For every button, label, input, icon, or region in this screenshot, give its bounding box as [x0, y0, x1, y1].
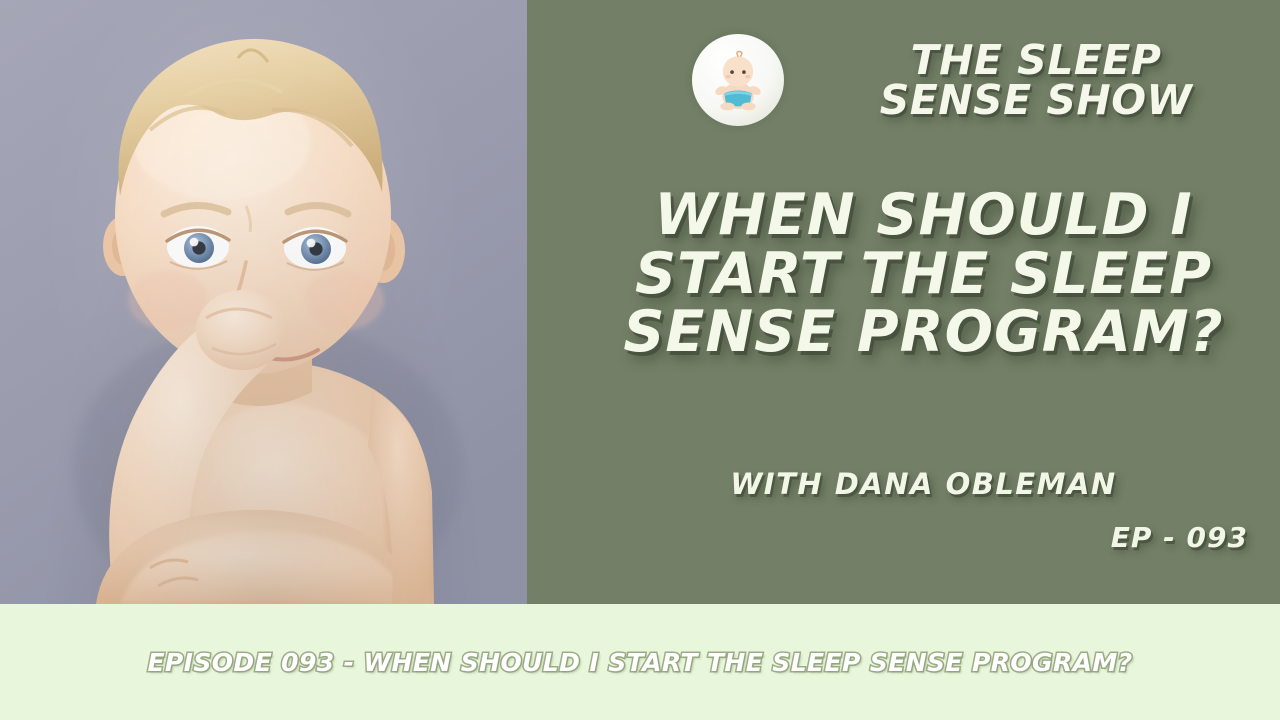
show-header: THE SLEEP SENSE SHOW	[692, 34, 1272, 126]
podcast-episode-thumbnail: THE SLEEP SENSE SHOW WHEN SHOULD I START…	[0, 0, 1280, 720]
content-panel: THE SLEEP SENSE SHOW WHEN SHOULD I START…	[527, 0, 1280, 604]
episode-number-badge: EP - 093	[1111, 521, 1248, 554]
hero-area: THE SLEEP SENSE SHOW WHEN SHOULD I START…	[0, 0, 1280, 604]
show-title: THE SLEEP SENSE SHOW	[800, 40, 1272, 120]
episode-title-line-3: SENSE PROGRAM?	[547, 303, 1280, 362]
episode-title-line-2: START THE SLEEP	[547, 245, 1280, 304]
show-title-line-1: THE SLEEP	[800, 40, 1272, 80]
baby-illustration	[0, 0, 527, 604]
episode-title-line-1: WHEN SHOULD I	[547, 186, 1280, 245]
baby-glyph-icon	[705, 47, 771, 113]
caption-bar: EPISODE 093 - WHEN SHOULD I START THE SL…	[0, 604, 1280, 720]
show-title-line-2: SENSE SHOW	[800, 80, 1272, 120]
episode-title: WHEN SHOULD I START THE SLEEP SENSE PROG…	[547, 186, 1280, 362]
caption-text: EPISODE 093 - WHEN SHOULD I START THE SL…	[147, 648, 1132, 677]
baby-portrait-photo	[0, 0, 527, 604]
baby-logo-icon	[692, 34, 784, 126]
host-name: WITH DANA OBLEMAN	[547, 467, 1280, 501]
